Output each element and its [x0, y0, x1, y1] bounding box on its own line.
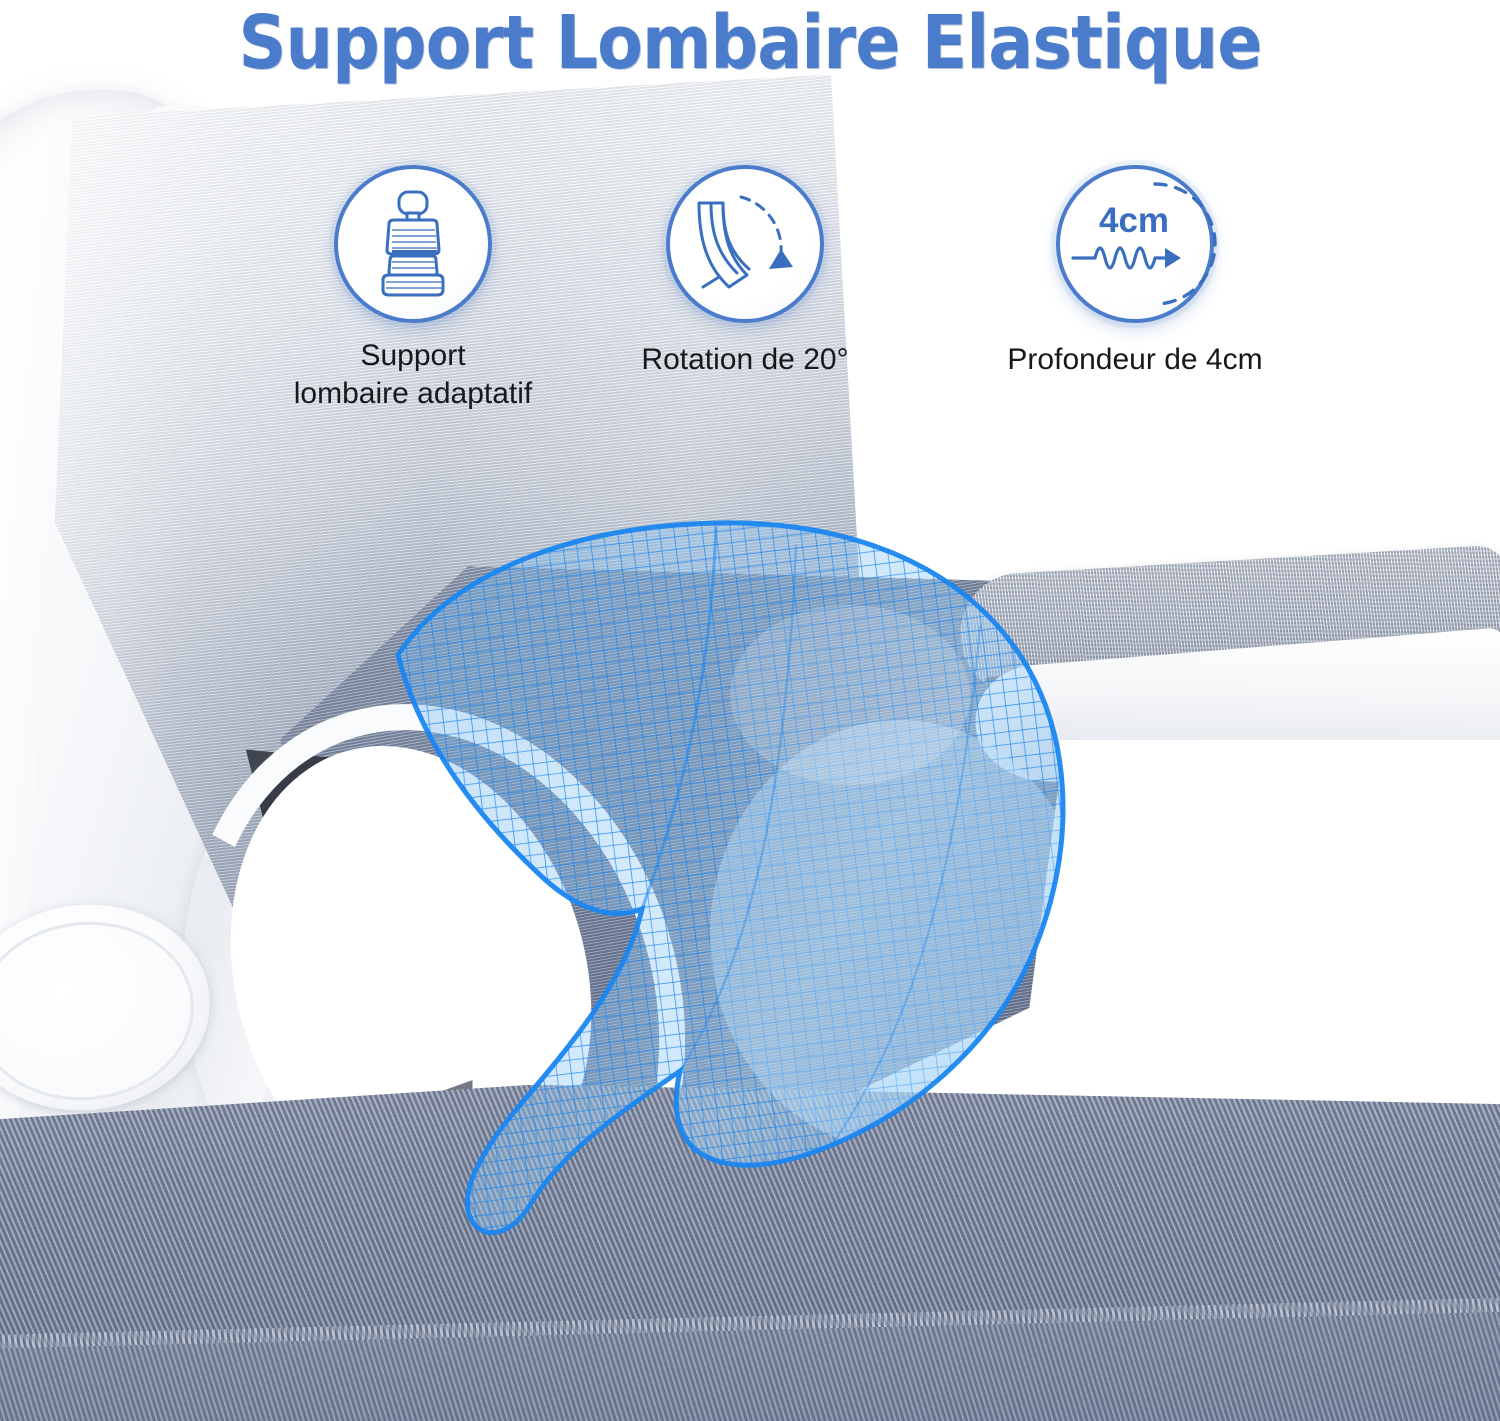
- product-feature-image: Support Lombaire Elastique: [0, 0, 1500, 1421]
- feature-caption: Profondeur de 4cm: [990, 341, 1280, 379]
- rotation-arrow-icon: [689, 191, 801, 297]
- badge-circle: [666, 165, 824, 323]
- feature-lumbar-support: Support lombaire adaptatif: [248, 165, 578, 413]
- feature-rotation: Rotation de 20°: [620, 165, 870, 379]
- feature-depth: 4cm Profondeur de 4cm: [990, 165, 1280, 379]
- depth-value-label: 4cm: [1099, 201, 1169, 240]
- badge-circle: [334, 165, 492, 323]
- feature-caption: Rotation de 20°: [620, 341, 870, 379]
- feature-caption: Support lombaire adaptatif: [248, 337, 578, 413]
- badge-circle: 4cm: [1056, 165, 1214, 323]
- car-seat-icon: [361, 188, 465, 300]
- lumbar-wireframe-overlay: [380, 505, 1100, 1245]
- page-title: Support Lombaire Elastique: [75, 0, 1425, 88]
- spring-depth-icon: 4cm: [1069, 182, 1201, 306]
- background-gap-right: [1060, 740, 1500, 1100]
